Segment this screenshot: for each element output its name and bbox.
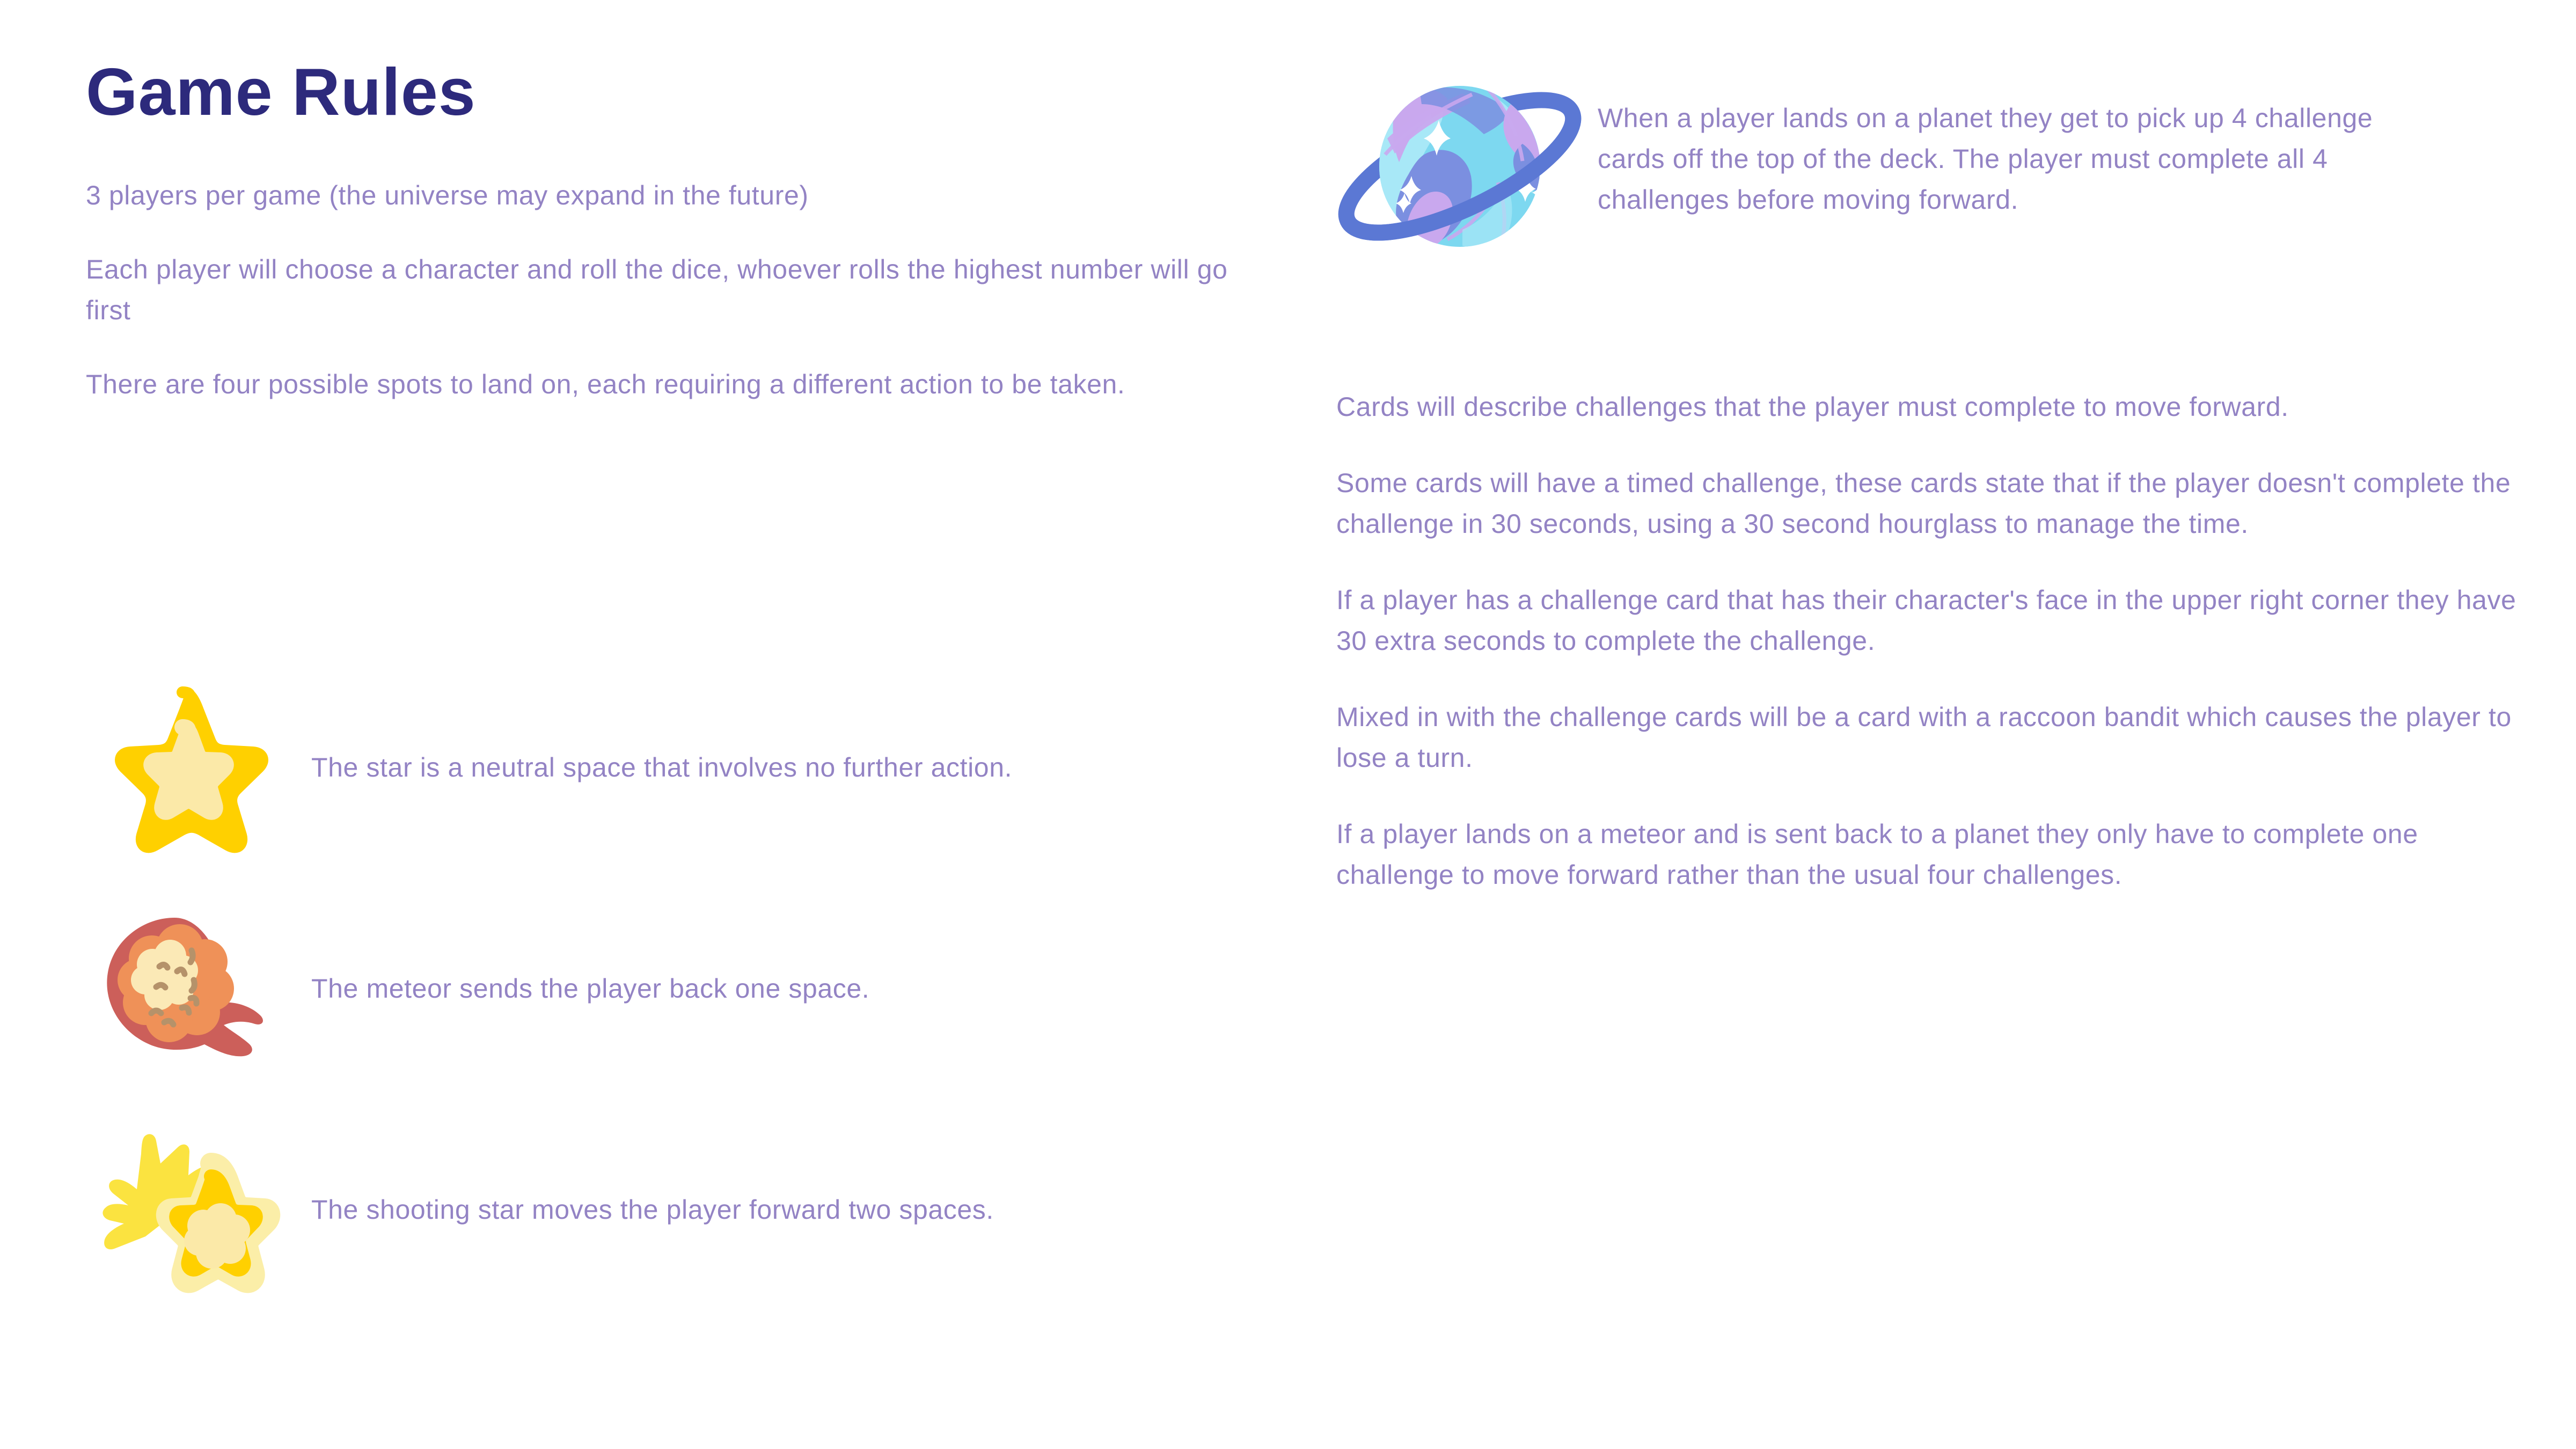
star-icon-slot — [86, 676, 279, 859]
intro-paragraph-3: There are four possible spots to land on… — [86, 364, 1256, 405]
intro-paragraph-group: 3 players per game (the universe may exp… — [86, 175, 1256, 405]
star-icon — [99, 687, 266, 848]
planet-description: When a player lands on a planet they get… — [1586, 64, 2435, 220]
right-paragraph-3: If a player has a challenge card that ha… — [1336, 580, 2533, 661]
spot-row-star: The star is a neutral space that involve… — [86, 665, 1277, 869]
planet-icon-slot — [1334, 69, 1586, 278]
rules-page: Game Rules 3 players per game (the unive… — [0, 0, 2576, 1449]
right-column: When a player lands on a planet they get… — [1336, 64, 2506, 320]
planet-block: When a player lands on a planet they get… — [1336, 64, 2506, 278]
intro-paragraph-2: Each player will choose a character and … — [86, 249, 1256, 331]
planet-icon — [1334, 69, 1586, 278]
page-title: Game Rules — [86, 59, 1256, 126]
shooting-star-icon-slot — [86, 1118, 279, 1301]
spot-list: The star is a neutral space that involve… — [86, 665, 1277, 1329]
intro-paragraph-1: 3 players per game (the universe may exp… — [86, 175, 1256, 216]
meteor-icon-slot — [86, 897, 279, 1080]
spot-row-meteor: The meteor sends the player back one spa… — [86, 887, 1277, 1091]
shooting-star-icon — [94, 1124, 271, 1296]
spot-description-star: The star is a neutral space that involve… — [279, 747, 1012, 788]
meteor-icon — [94, 913, 271, 1064]
left-column: Game Rules 3 players per game (the unive… — [86, 59, 1256, 474]
right-paragraph-2: Some cards will have a timed challenge, … — [1336, 463, 2533, 544]
right-paragraph-1: Cards will describe challenges that the … — [1336, 386, 2533, 427]
right-paragraph-group: Cards will describe challenges that the … — [1336, 386, 2533, 895]
right-paragraph-5: If a player lands on a meteor and is sen… — [1336, 814, 2533, 895]
spot-description-meteor: The meteor sends the player back one spa… — [279, 968, 869, 1009]
spot-description-shooting-star: The shooting star moves the player forwa… — [279, 1189, 994, 1230]
spot-row-shooting-star: The shooting star moves the player forwa… — [86, 1108, 1277, 1312]
right-paragraph-4: Mixed in with the challenge cards will b… — [1336, 697, 2533, 778]
